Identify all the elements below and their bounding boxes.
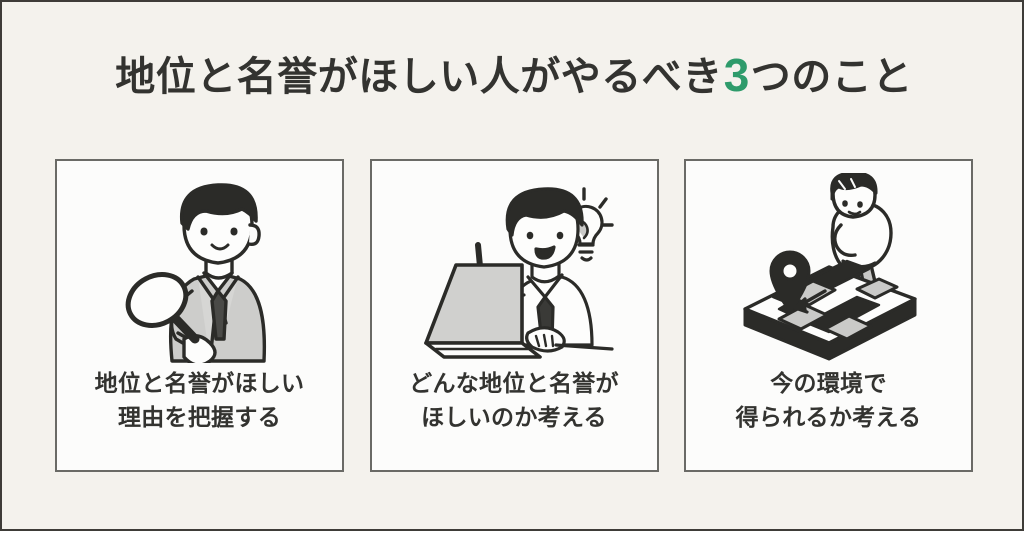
infographic-root: 地位と名誉がほしい人がやるべき3つのこと bbox=[0, 0, 1024, 538]
card-3-caption-line-2: 得られるか考える bbox=[692, 400, 965, 434]
card-1-caption-line-2: 理由を把握する bbox=[63, 400, 336, 434]
card-list: 地位と名誉がほしい 理由を把握する bbox=[55, 159, 973, 472]
card-1-illustration bbox=[57, 161, 342, 366]
card-2-caption: どんな地位と名誉が ほしいのか考える bbox=[372, 366, 657, 434]
card-3-illustration bbox=[686, 161, 971, 366]
card-1-caption: 地位と名誉がほしい 理由を把握する bbox=[57, 366, 342, 434]
card-2-illustration bbox=[372, 161, 657, 366]
card-1-caption-line-1: 地位と名誉がほしい bbox=[63, 366, 336, 400]
person-on-city-map-with-location-pin-icon bbox=[729, 173, 929, 363]
card-2-caption-line-1: どんな地位と名誉が bbox=[378, 366, 651, 400]
page-title-suffix: つのこと bbox=[751, 55, 913, 99]
card-step-1[interactable]: 地位と名誉がほしい 理由を把握する bbox=[55, 159, 344, 472]
card-3-caption-line-1: 今の環境で bbox=[692, 366, 965, 400]
page-title-prefix: 地位と名誉がほしい人がやるべき bbox=[115, 55, 723, 99]
page-title-number: 3 bbox=[723, 49, 751, 101]
page-title: 地位と名誉がほしい人がやるべき3つのこと bbox=[2, 51, 1024, 101]
man-at-laptop-with-idea-lightbulb-icon bbox=[412, 173, 617, 363]
card-step-3[interactable]: 今の環境で 得られるか考える bbox=[684, 159, 973, 472]
card-3-caption: 今の環境で 得られるか考える bbox=[686, 366, 971, 434]
card-step-2[interactable]: どんな地位と名誉が ほしいのか考える bbox=[370, 159, 659, 472]
canvas-frame: 地位と名誉がほしい人がやるべき3つのこと bbox=[0, 0, 1024, 531]
card-2-caption-line-2: ほしいのか考える bbox=[378, 400, 651, 434]
man-with-magnifying-glass-icon bbox=[100, 173, 300, 363]
